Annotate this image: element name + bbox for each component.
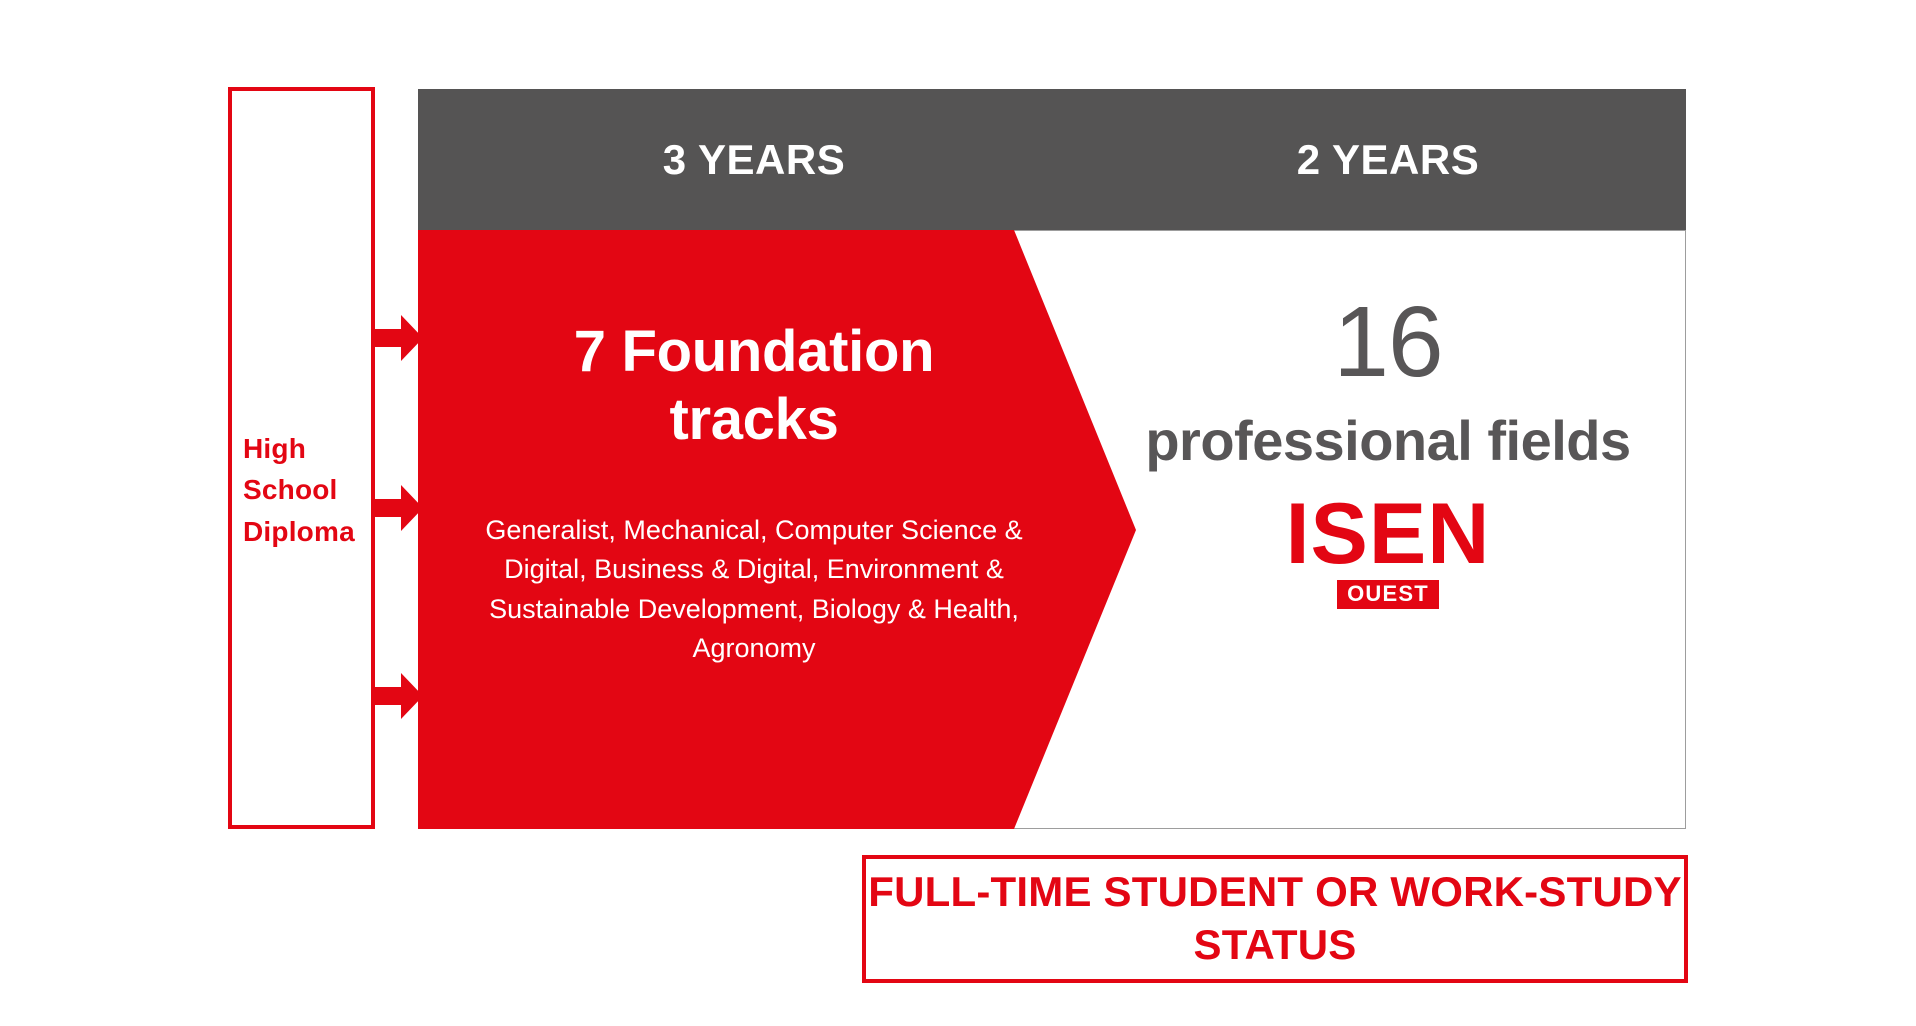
foundation-tracks-list: Generalist, Mechanical, Computer Science… (464, 511, 1044, 669)
duration-3-years: 3 YEARS (418, 89, 1090, 230)
foundation-tracks-panel: 7 Foundation tracks Generalist, Mechanic… (418, 230, 1090, 829)
arrow-shaft (371, 329, 405, 347)
duration-header-bar: 3 YEARS 2 YEARS (418, 89, 1686, 230)
status-banner-text: FULL-TIME STUDENT OR WORK-STUDY STATUS (866, 866, 1684, 972)
arrow-right-icon-1 (371, 315, 423, 361)
arrow-shaft (371, 687, 405, 705)
arrow-shaft (371, 499, 405, 517)
diagram-body: 7 Foundation tracks Generalist, Mechanic… (418, 230, 1686, 829)
professional-fields-count: 16 (1333, 292, 1442, 392)
professional-fields-panel: 16 professional fields ISEN OUEST (1090, 230, 1686, 829)
arrow-right-icon-2 (371, 485, 423, 531)
professional-fields-label: professional fields (1145, 410, 1630, 473)
foundation-tracks-title: 7 Foundation tracks (484, 318, 1024, 455)
arrow-right-icon-3 (371, 673, 423, 719)
infographic-root: High School Diploma 3 YEARS 2 YEARS 7 Fo… (0, 0, 1916, 1026)
duration-2-years: 2 YEARS (1090, 89, 1686, 230)
isen-logo-wordmark: ISEN (1286, 495, 1491, 574)
program-diagram: 3 YEARS 2 YEARS 7 Foundation tracks Gene… (418, 89, 1686, 829)
high-school-diploma-label: High School Diploma (243, 428, 378, 552)
isen-logo-region: OUEST (1337, 580, 1439, 609)
status-banner: FULL-TIME STUDENT OR WORK-STUDY STATUS (862, 855, 1688, 983)
isen-logo: ISEN OUEST (1286, 495, 1491, 609)
